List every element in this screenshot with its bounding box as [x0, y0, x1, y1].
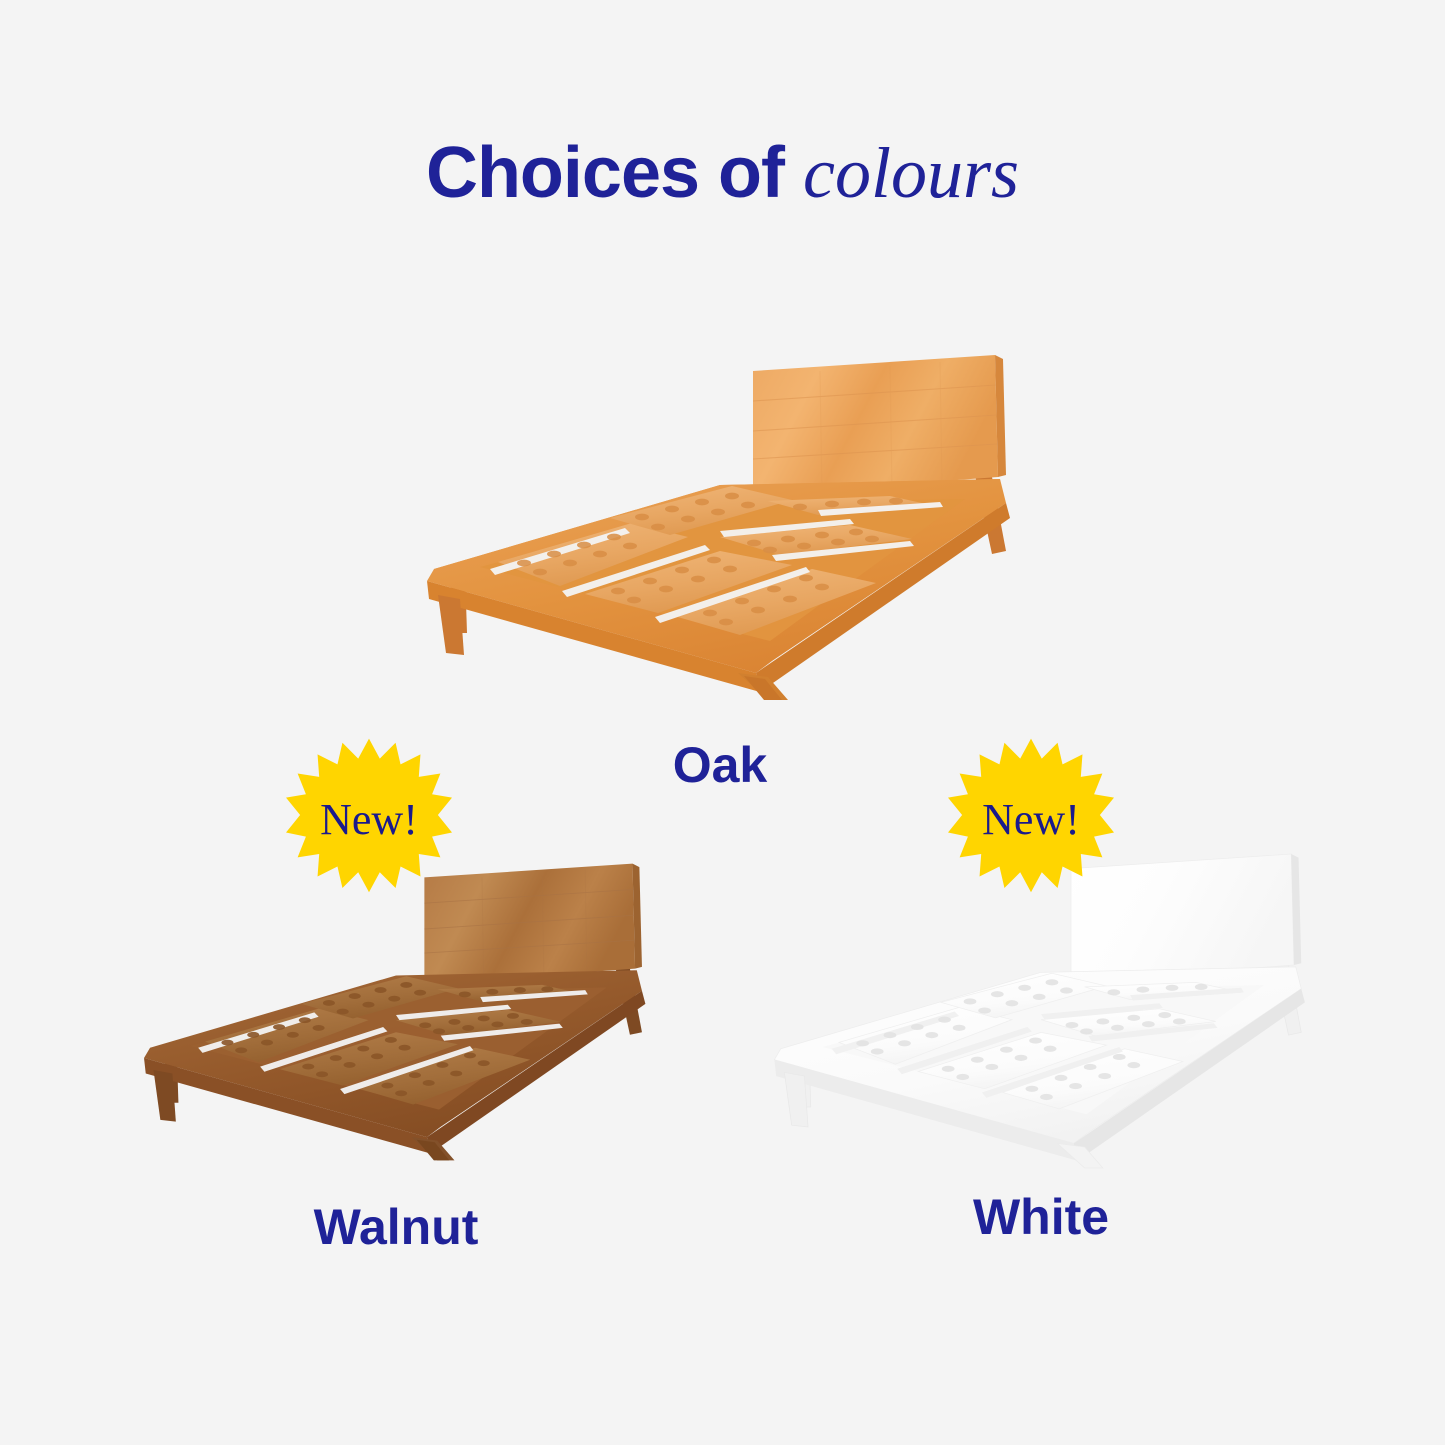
starburst-icon: [286, 737, 452, 903]
page-title: Choices of colours: [0, 137, 1445, 209]
bed-leg-front-left: [153, 1070, 175, 1122]
product-walnut[interactable]: Walnut: [138, 862, 654, 1162]
product-caption-oak: Oak: [420, 740, 1020, 790]
bed-headboard: [424, 864, 635, 984]
platform-bed-icon-walnut: [138, 862, 654, 1162]
poster-canvas: Choices of colours: [0, 0, 1445, 1445]
product-caption-walnut: Walnut: [138, 1202, 654, 1252]
bed-leg-front-left: [784, 1072, 808, 1127]
starburst-icon: [948, 737, 1114, 903]
product-oak[interactable]: Oak: [420, 355, 1020, 700]
platform-bed-icon-oak: [420, 355, 1020, 700]
new-badge-walnut[interactable]: New!: [286, 737, 452, 903]
new-badge-white[interactable]: New!: [948, 737, 1114, 903]
page-title-bold: Choices of: [426, 133, 784, 213]
bed-headboard: [753, 355, 998, 495]
product-caption-white: White: [768, 1192, 1314, 1242]
bed-leg-front-left: [438, 595, 464, 655]
page-title-italic: colours: [803, 133, 1019, 213]
